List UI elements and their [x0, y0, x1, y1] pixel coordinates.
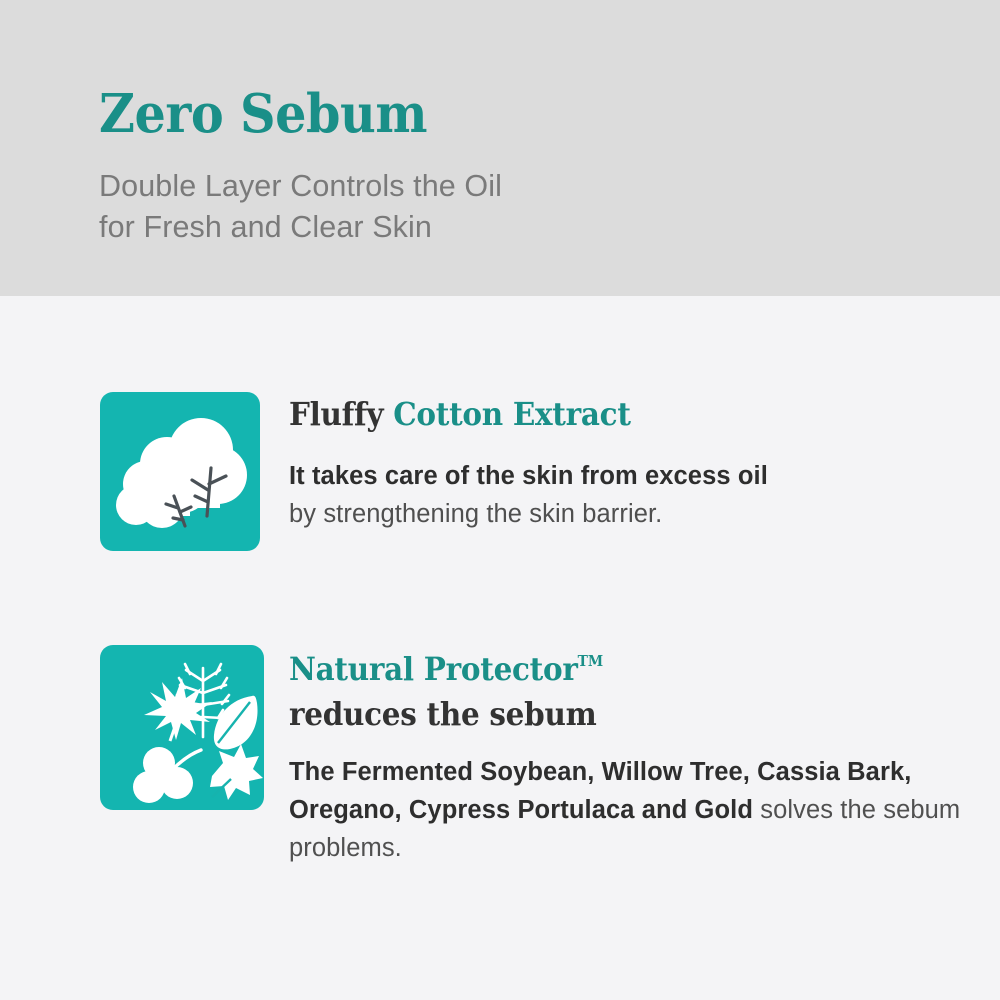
cotton-boll-icon — [100, 392, 260, 551]
product-infographic: Zero Sebum Double Layer Controls the Oil… — [0, 0, 1000, 1000]
header-band: Zero Sebum Double Layer Controls the Oil… — [0, 0, 1000, 296]
cotton-heading-plain: Fluffy — [289, 395, 393, 433]
cotton-icon-tile — [100, 392, 260, 551]
cotton-text-column: Fluffy Cotton Extract It takes care of t… — [289, 392, 768, 533]
natural-text-column: Natural ProtectorTMreduces the sebum The… — [289, 645, 1000, 867]
natural-heading-accent: Natural Protector — [289, 650, 578, 688]
cotton-body: It takes care of the skin from excess oi… — [289, 457, 768, 533]
trademark-mark: TM — [578, 652, 604, 670]
natural-heading: Natural ProtectorTMreduces the sebum — [289, 639, 943, 737]
herbal-leaves-icon — [100, 645, 264, 810]
natural-body: The Fermented Soybean, Willow Tree, Cass… — [289, 753, 1000, 867]
page-subtitle: Double Layer Controls the Oil for Fresh … — [99, 166, 502, 248]
cotton-heading: Fluffy Cotton Extract — [289, 392, 730, 437]
cotton-body-strong: It takes care of the skin from excess oi… — [289, 457, 768, 495]
cotton-heading-accent: Cotton Extract — [393, 395, 630, 433]
page-title: Zero Sebum — [99, 88, 427, 141]
herbal-icon-tile — [100, 645, 264, 810]
cotton-body-light: by strengthening the skin barrier. — [289, 495, 768, 533]
natural-heading-plain: reduces the sebum — [289, 695, 596, 733]
